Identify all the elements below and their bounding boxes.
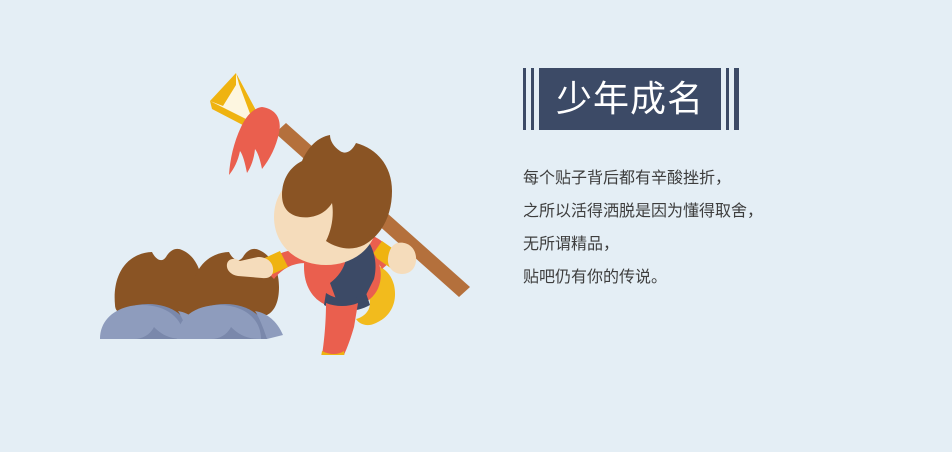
body-line: 之所以活得洒脱是因为懂得取舍， <box>523 195 923 228</box>
heading-rule-left-outer <box>523 68 526 130</box>
body-line: 每个贴子背后都有辛酸挫折， <box>523 162 923 195</box>
heading-rule-right-inner <box>726 68 729 130</box>
heading-rule-right-outer <box>734 68 739 130</box>
body-line: 无所谓精品， <box>523 228 923 261</box>
text-column: 少年成名 每个贴子背后都有辛酸挫折， 之所以活得洒脱是因为懂得取舍， 无所谓精品… <box>523 64 923 294</box>
hero-leg <box>322 303 358 355</box>
body-paragraph: 每个贴子背后都有辛酸挫折， 之所以活得洒脱是因为懂得取舍， 无所谓精品， 贴吧仍… <box>523 162 923 294</box>
body-line: 贴吧仍有你的传说。 <box>523 261 923 294</box>
page-title: 少年成名 <box>556 81 704 117</box>
heading-block: 少年成名 <box>523 64 923 134</box>
heading-box: 少年成名 <box>539 68 721 130</box>
hero-with-spear-illustration <box>90 55 490 355</box>
slide-root: 少年成名 每个贴子背后都有辛酸挫折， 之所以活得洒脱是因为懂得取舍， 无所谓精品… <box>0 0 952 452</box>
heading-rule-left-inner <box>531 68 534 130</box>
hero-hand-right <box>388 243 416 274</box>
